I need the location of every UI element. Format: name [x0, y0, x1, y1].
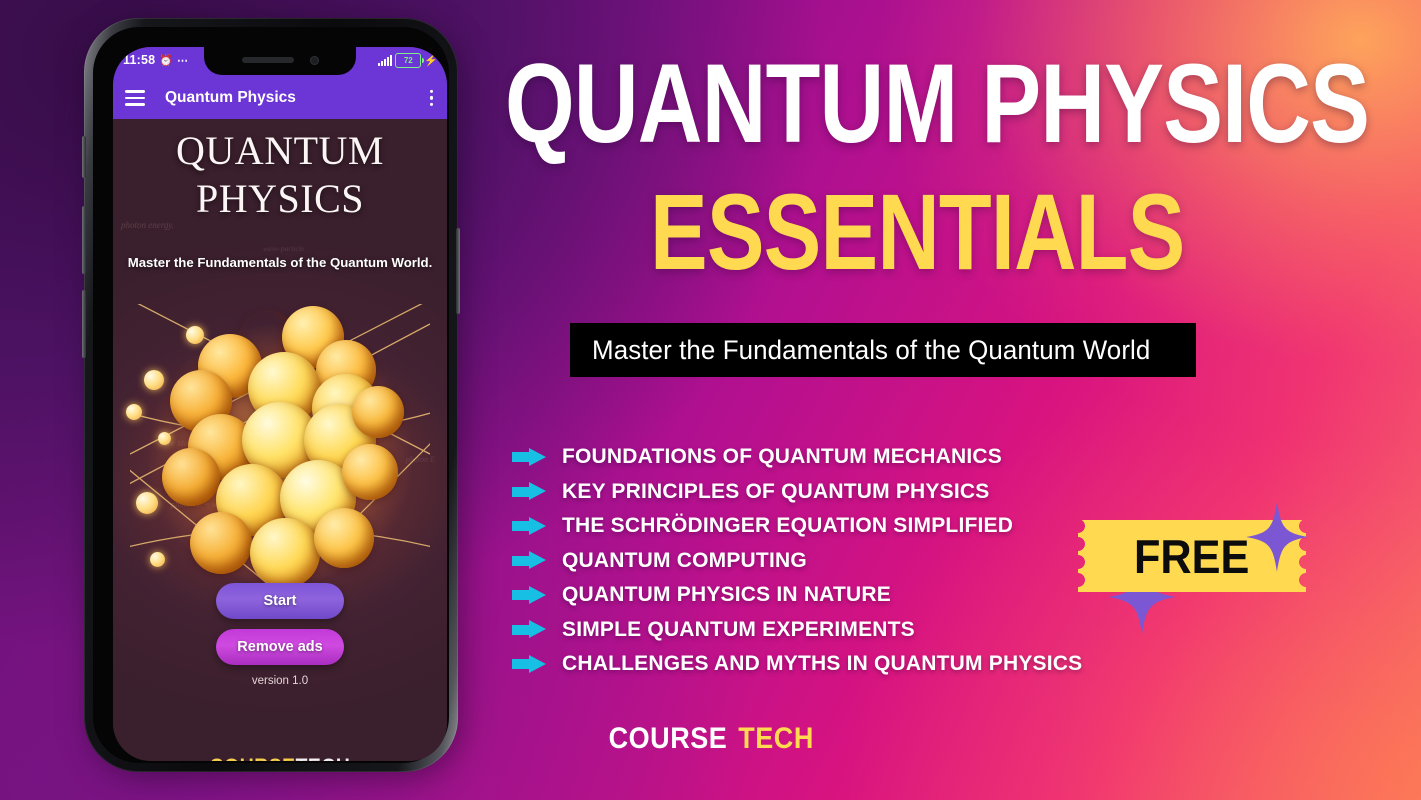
free-badge-label: FREE [1134, 529, 1249, 584]
front-camera-icon [310, 56, 319, 65]
feature-label: QUANTUM COMPUTING [562, 549, 807, 573]
electron-dot [136, 492, 158, 514]
start-button[interactable]: Start [216, 583, 344, 619]
atom-illustration [130, 304, 430, 594]
free-badge: FREE [1078, 520, 1306, 592]
phone-power-button[interactable] [456, 228, 460, 314]
hamburger-menu-icon[interactable] [125, 90, 145, 105]
promo-subtitle-text: Master the Fundamentals of the Quantum W… [592, 335, 1150, 366]
signal-bars-icon [378, 55, 392, 66]
footer-brand-logo-part2: TECH [739, 722, 815, 756]
phone-volume-down-button[interactable] [82, 290, 86, 358]
nucleus-sphere [314, 508, 374, 568]
nucleus-sphere [352, 386, 404, 438]
feature-label: KEY PRINCIPLES OF QUANTUM PHYSICS [562, 480, 989, 504]
kebab-menu-icon[interactable] [430, 90, 433, 106]
phone-silent-switch[interactable] [82, 136, 86, 178]
promo-headline-line-2: ESSENTIALS [650, 182, 1258, 282]
electron-dot [186, 326, 204, 344]
battery-level-label: 72 [404, 57, 413, 65]
phone-mockup: 11:58 ⏰ ⋯ 72 ⚡ [84, 18, 466, 782]
alarm-icon: ⏰ [159, 54, 173, 67]
status-bar-right: 72 ⚡ [378, 53, 438, 68]
version-label: version 1.0 [113, 675, 447, 687]
nucleus-sphere [162, 448, 220, 506]
app-bar-title: Quantum Physics [165, 89, 296, 107]
feature-label: THE SCHRÖDINGER EQUATION SIMPLIFIED [562, 514, 1013, 538]
remove-ads-button[interactable]: Remove ads [216, 629, 344, 665]
status-bar-left: 11:58 ⏰ ⋯ [123, 53, 188, 67]
electron-dot [144, 370, 164, 390]
arrow-right-icon [512, 586, 546, 605]
promo-banner: 11:58 ⏰ ⋯ 72 ⚡ [0, 0, 1421, 800]
footer-brand-logo: COURSETECH [0, 722, 1421, 756]
nucleus-sphere [190, 512, 252, 574]
feature-label: FOUNDATIONS OF QUANTUM MECHANICS [562, 445, 1002, 469]
equation-text: wave-particle [263, 244, 304, 253]
electron-dot [126, 404, 142, 420]
phone-bezel: 11:58 ⏰ ⋯ 72 ⚡ [93, 27, 449, 763]
promo-headline-line-1: QUANTUM PHYSICS [505, 52, 1209, 156]
arrow-right-icon [512, 448, 546, 467]
list-item: SIMPLE QUANTUM EXPERIMENTS [512, 613, 1212, 648]
more-dots-icon: ⋯ [177, 54, 188, 67]
charging-bolt-icon: ⚡ [424, 54, 438, 67]
list-item: KEY PRINCIPLES OF QUANTUM PHYSICS [512, 475, 1212, 510]
phone-notch [204, 47, 356, 75]
feature-label: CHALLENGES AND MYTHS IN QUANTUM PHYSICS [562, 652, 1082, 676]
feature-label: SIMPLE QUANTUM EXPERIMENTS [562, 618, 915, 642]
status-clock: 11:58 [123, 53, 155, 67]
electron-dot [158, 432, 171, 445]
arrow-right-icon [512, 517, 546, 536]
phone-screen: 11:58 ⏰ ⋯ 72 ⚡ [113, 47, 447, 761]
arrow-right-icon [512, 620, 546, 639]
list-item: FOUNDATIONS OF QUANTUM MECHANICS [512, 440, 1212, 475]
list-item: CHALLENGES AND MYTHS IN QUANTUM PHYSICS [512, 647, 1212, 682]
start-button-label: Start [263, 593, 296, 609]
battery-icon: 72 [395, 53, 421, 68]
app-bar: Quantum Physics [113, 77, 447, 119]
electron-dot [150, 552, 165, 567]
feature-label: QUANTUM PHYSICS IN NATURE [562, 583, 891, 607]
app-screen-title: QUANTUM PHYSICS [113, 127, 447, 223]
footer-brand-logo-part1: COURSE [609, 722, 728, 756]
earpiece-speaker [242, 57, 294, 63]
nucleus-sphere [250, 518, 320, 588]
phone-frame: 11:58 ⏰ ⋯ 72 ⚡ [84, 18, 458, 772]
nucleus-sphere [342, 444, 398, 500]
status-bar: 11:58 ⏰ ⋯ 72 ⚡ [113, 47, 447, 77]
arrow-right-icon [512, 551, 546, 570]
app-title-line-1: QUANTUM [113, 127, 447, 175]
app-content: photon energy. wave-particle Bohr Model … [113, 119, 447, 761]
arrow-right-icon [512, 482, 546, 501]
arrow-right-icon [512, 655, 546, 674]
app-screen-subtitle: Master the Fundamentals of the Quantum W… [113, 255, 447, 270]
remove-ads-button-label: Remove ads [237, 639, 322, 655]
promo-subtitle-bar: Master the Fundamentals of the Quantum W… [570, 323, 1196, 377]
phone-volume-up-button[interactable] [82, 206, 86, 274]
app-title-line-2: PHYSICS [113, 175, 447, 223]
